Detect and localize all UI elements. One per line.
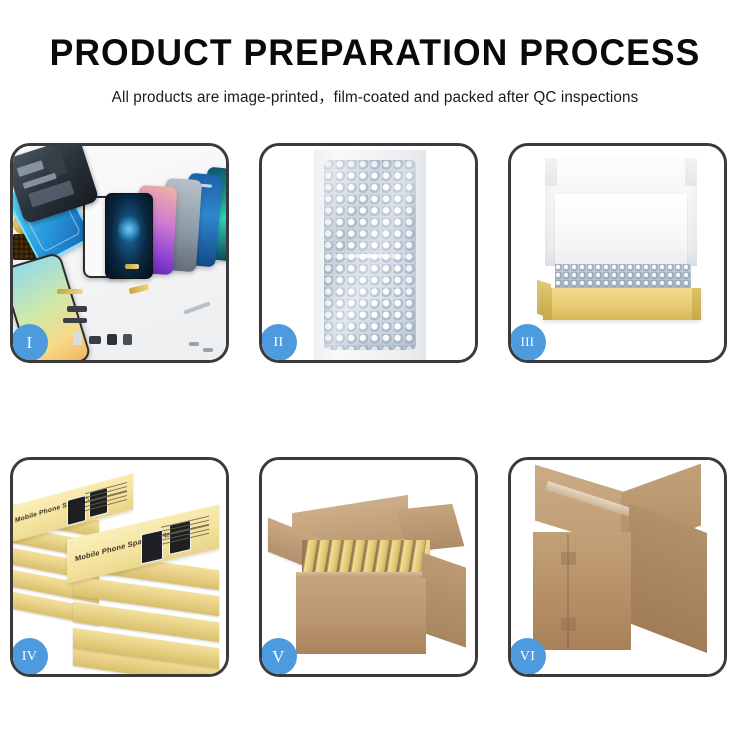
carton-front-panel — [296, 578, 426, 654]
step-badge-6: VI — [509, 638, 546, 675]
page-header: PRODUCT PREPARATION PROCESS All products… — [0, 0, 750, 107]
bubble-film-seam — [324, 254, 416, 258]
retail-box-stack: Mobile Phone Spare Parts — [13, 460, 226, 674]
part-flex-cable-2 — [129, 284, 150, 295]
part-speaker — [107, 334, 117, 345]
process-steps-grid: I II III — [10, 143, 740, 677]
step-badge-2: II — [260, 324, 297, 361]
part-sim-tray — [73, 332, 82, 345]
retail-box-product-image-1 — [67, 495, 86, 526]
process-row-2: Mobile Phone Spare Parts — [10, 457, 740, 677]
process-row-1: I II III — [10, 143, 740, 363]
part-bracket-2 — [63, 318, 87, 323]
part-camera-module — [89, 336, 101, 344]
part-screw-2 — [203, 348, 213, 352]
part-flex-cable-1 — [57, 289, 83, 294]
sealed-carton-front-panel — [533, 532, 631, 650]
inner-box-front — [543, 288, 701, 320]
step-panel-1[interactable]: I — [10, 143, 229, 363]
step-panel-6[interactable]: VI — [508, 457, 727, 677]
step-5-image — [262, 460, 475, 674]
sealed-carton-tab-top — [561, 552, 576, 565]
step-panel-3[interactable]: III — [508, 143, 727, 363]
step-1-image — [13, 146, 226, 360]
step-4-image: Mobile Phone Spare Parts — [13, 460, 226, 674]
step-badge-3: III — [509, 324, 546, 361]
step-2-image — [262, 146, 475, 360]
step-panel-4[interactable]: Mobile Phone Spare Parts — [10, 457, 229, 677]
foam-sheet — [555, 194, 687, 264]
step-badge-5: V — [260, 638, 297, 675]
page-subtitle: All products are image-printed，film-coat… — [6, 71, 745, 107]
part-bracket-1 — [67, 306, 87, 312]
part-tool-tweezers — [183, 301, 211, 314]
step-6-image — [511, 460, 724, 674]
step-badge-1: I — [11, 324, 48, 361]
page-title: PRODUCT PREPARATION PROCESS — [15, 0, 735, 71]
part-button-flex — [125, 264, 139, 269]
bubble-wrapped-contents — [555, 264, 691, 290]
sealed-carton-tab-bottom — [561, 618, 576, 631]
part-screw-1 — [189, 342, 199, 346]
step-3-image — [511, 146, 724, 360]
product-preparation-page: PRODUCT PREPARATION PROCESS All products… — [0, 0, 750, 750]
step-panel-5[interactable]: V — [259, 457, 478, 677]
part-vibrator — [123, 334, 132, 345]
retail-box-product-image-3 — [141, 529, 163, 564]
step-panel-2[interactable]: II — [259, 143, 478, 363]
step-badge-4: IV — [11, 638, 48, 675]
carton-side-panel — [422, 552, 466, 647]
